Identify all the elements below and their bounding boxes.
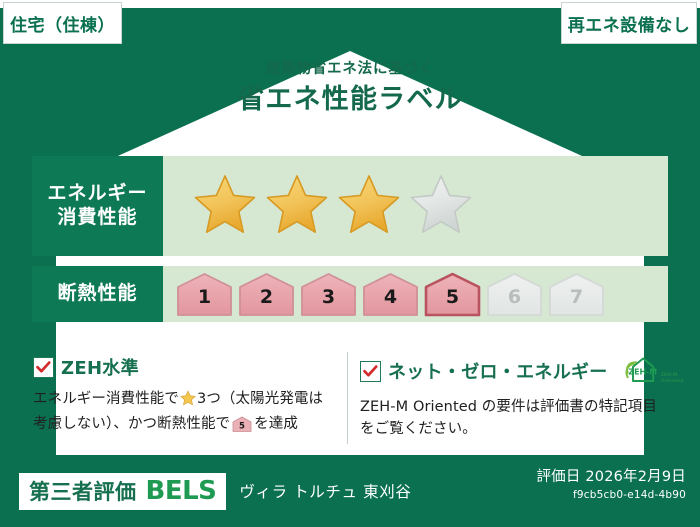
- evaluation-info: 評価日 2026年2月9日 f9cb5cb0-e14d-4b90: [536, 465, 686, 501]
- insulation-step-5: 5: [423, 271, 482, 317]
- bels-en-label: BELS: [146, 476, 217, 506]
- insulation-step-4: 4: [361, 271, 420, 317]
- star-icon: [337, 173, 401, 239]
- note-zeh-body-part1: エネルギー消費性能で: [33, 391, 179, 407]
- star-icon: [409, 173, 473, 239]
- building-name: ヴィラ トルチュ 東刈谷: [239, 480, 411, 502]
- energy-label-line2: 消費性能: [57, 206, 137, 230]
- evaluation-date: 評価日 2026年2月9日: [536, 465, 686, 486]
- note-zeh-body: エネルギー消費性能で3つ（太陽光発電は考慮しない）、かつ断熱性能で5を達成: [33, 388, 333, 440]
- insulation-step-number: 4: [361, 286, 420, 308]
- notes-divider: [347, 352, 348, 444]
- insulation-performance-row: 断熱性能 1234567: [32, 266, 668, 322]
- bels-jp-label: 第三者評価: [29, 476, 137, 506]
- insulation-step-number: 5: [423, 286, 482, 308]
- note-zeh-title: ZEH水準: [61, 354, 139, 380]
- energy-performance-body: [163, 156, 668, 256]
- check-icon: [360, 361, 381, 382]
- title-subtitle: 建築物省エネ法に基づく: [0, 62, 700, 78]
- zeh-m-sublabel: ZEH-M Oriented: [661, 373, 684, 388]
- svg-text:5: 5: [239, 422, 245, 432]
- note-net-zero-energy: ネット・ゼロ・エネルギー ZEH-M ZEH-M Oriented ZEH-M …: [360, 354, 660, 441]
- note-zeh-body-part3: を達成: [254, 416, 298, 432]
- zeh-m-house-icon: ZEH-M: [619, 354, 659, 388]
- note-nze-title: ネット・ゼロ・エネルギー: [388, 358, 608, 384]
- insulation-step-number: 6: [485, 286, 544, 308]
- insulation-performance-label: 断熱性能: [32, 266, 163, 322]
- page-title: 建築物省エネ法に基づく 省エネ性能ラベル: [0, 62, 700, 115]
- footer-bar: 第三者評価 BELS ヴィラ トルチュ 東刈谷 評価日 2026年2月9日 f9…: [0, 455, 700, 527]
- star-icon: [180, 394, 196, 410]
- badge-renewable-energy: 再エネ設備なし: [561, 2, 697, 44]
- star-icon: [265, 173, 329, 239]
- insulation-step-number: 7: [547, 286, 606, 308]
- energy-performance-label: 住宅（住棟） 再エネ設備なし 建築物省エネ法に基づく 省エネ性能ラベル エネルギ…: [0, 0, 700, 527]
- insulation-step-2: 2: [237, 271, 296, 317]
- note-zeh-standard: ZEH水準 エネルギー消費性能で3つ（太陽光発電は考慮しない）、かつ断熱性能で5…: [33, 354, 333, 440]
- insulation-step-number: 3: [299, 286, 358, 308]
- inline-step-badge: 5: [232, 420, 252, 436]
- evaluation-id: f9cb5cb0-e14d-4b90: [536, 489, 686, 501]
- note-nze-header: ネット・ゼロ・エネルギー ZEH-M ZEH-M Oriented: [360, 354, 660, 388]
- insulation-step-3: 3: [299, 271, 358, 317]
- bels-chip: 第三者評価 BELS: [19, 473, 226, 510]
- zeh-m-sublabel-line1: ZEH-M: [661, 373, 678, 378]
- title-main: 省エネ性能ラベル: [0, 85, 700, 115]
- insulation-step-7: 7: [547, 271, 606, 317]
- insulation-step-number: 2: [237, 286, 296, 308]
- badge-building-type: 住宅（住棟）: [3, 2, 122, 44]
- energy-performance-row: エネルギー 消費性能: [32, 156, 668, 256]
- zeh-m-sublabel-line2: Oriented: [661, 379, 684, 384]
- insulation-label-text: 断熱性能: [57, 282, 137, 306]
- note-nze-body: ZEH-M Oriented の要件は評価書の特記項目をご覧ください。: [360, 396, 660, 441]
- energy-label-line1: エネルギー: [47, 182, 147, 206]
- insulation-step-1: 1: [175, 271, 234, 317]
- insulation-step-number: 1: [175, 286, 234, 308]
- svg-text:ZEH-M: ZEH-M: [628, 367, 657, 376]
- insulation-step-scale: 1234567: [175, 271, 606, 317]
- note-zeh-header: ZEH水準: [33, 354, 333, 380]
- zeh-m-logo: ZEH-M ZEH-M Oriented: [619, 354, 684, 388]
- check-icon: [33, 357, 54, 378]
- star-rating: [193, 173, 473, 239]
- star-icon: [193, 173, 257, 239]
- energy-performance-label: エネルギー 消費性能: [32, 156, 163, 256]
- insulation-performance-body: 1234567: [163, 266, 668, 322]
- insulation-step-6: 6: [485, 271, 544, 317]
